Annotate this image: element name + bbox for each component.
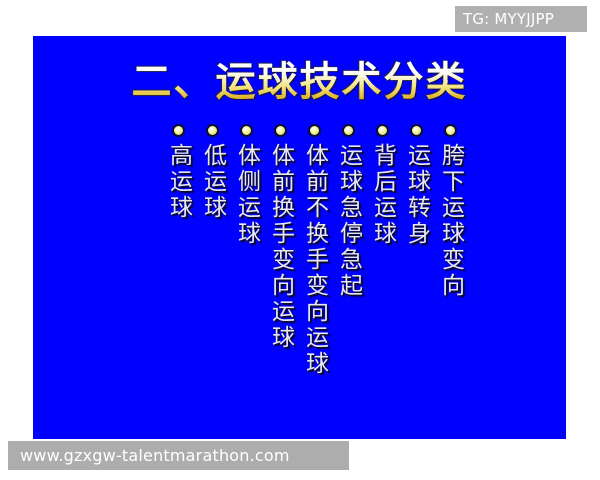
- bullet-dot-icon: [274, 124, 287, 137]
- bullet-column: 体前不换手变向运球: [299, 124, 329, 377]
- bullet-column: 体侧运球: [231, 124, 261, 247]
- bullet-column-label: 运球急停急起: [335, 143, 362, 299]
- bullet-column-label: 高运球: [165, 143, 192, 221]
- bullet-column: 高运球: [163, 124, 193, 221]
- bullet-dot-icon: [172, 124, 185, 137]
- bullet-column: 胯下运球变向: [435, 124, 465, 299]
- bullet-dot-icon: [444, 124, 457, 137]
- bullet-column: 运球急停急起: [333, 124, 363, 299]
- bullet-column-label: 体侧运球: [233, 143, 260, 247]
- bullet-column: 背后运球: [367, 124, 397, 247]
- bullet-dot-icon: [240, 124, 253, 137]
- presentation-slide: 二、运球技术分类 胯下运球变向 运球转身 背后运球 运球急停急起 体前不换手变向…: [33, 36, 566, 439]
- bullet-column-label: 运球转身: [403, 143, 430, 247]
- bullet-dot-icon: [410, 124, 423, 137]
- bullet-dot-icon: [376, 124, 389, 137]
- slide-title: 二、运球技术分类: [33, 58, 566, 106]
- bullet-dot-icon: [308, 124, 321, 137]
- footer-url-band: www.gzxgw-talentmarathon.com: [8, 441, 349, 470]
- bullet-column: 体前换手变向运球: [265, 124, 295, 351]
- bullet-dot-icon: [206, 124, 219, 137]
- footer-url-text: www.gzxgw-talentmarathon.com: [20, 441, 290, 470]
- bullet-column-label: 体前换手变向运球: [267, 143, 294, 351]
- bullet-column: 运球转身: [401, 124, 431, 247]
- bullet-column: 低运球: [197, 124, 227, 221]
- bullet-column-label: 胯下运球变向: [437, 143, 464, 299]
- bullet-column-list: 胯下运球变向 运球转身 背后运球 运球急停急起 体前不换手变向运球 体前换手变向…: [33, 124, 566, 424]
- bullet-dot-icon: [342, 124, 355, 137]
- bullet-column-label: 背后运球: [369, 143, 396, 247]
- bullet-column-label: 体前不换手变向运球: [301, 143, 328, 377]
- bullet-column-label: 低运球: [199, 143, 226, 221]
- telegram-watermark-badge: TG: MYYJJPP: [455, 6, 587, 32]
